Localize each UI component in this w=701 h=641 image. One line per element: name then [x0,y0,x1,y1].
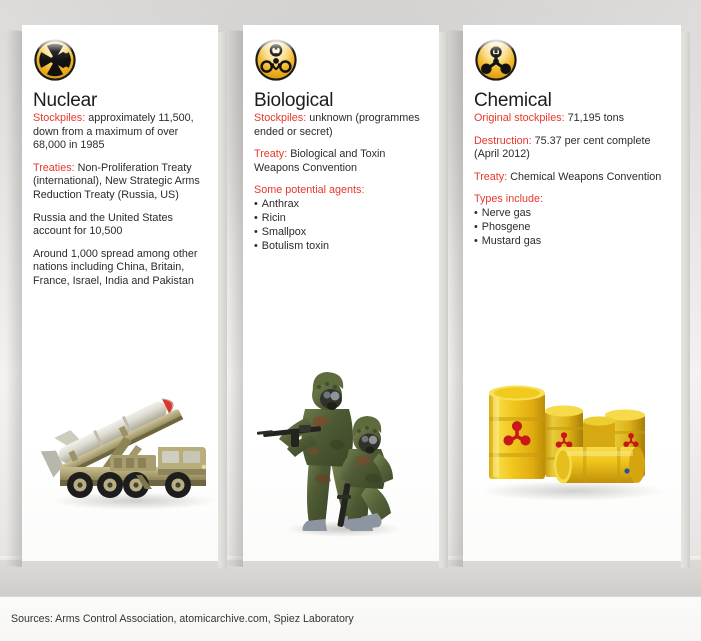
fact-label: Stockpiles: [254,112,306,124]
category-title-nuclear: Nuclear [33,91,206,111]
fact-label: Stockpiles: [33,112,85,124]
bullets-heading: Types include: [474,193,543,205]
artwork-missile-launcher [38,375,224,515]
fact-label: Treaties: [33,162,75,174]
bullets-heading-types: Types include: [474,193,669,207]
panel-chemical: Chemical Original stockpiles: 71,195 ton… [463,25,681,561]
panel-nuclear: Nuclear Stockpiles: approximately 11,500… [22,25,218,561]
fact-treaty: Treaty: Biological and Toxin Weapons Con… [254,148,427,175]
category-title-biological: Biological [254,91,427,111]
fact-other-nations: Around 1,000 spread among other nations … [33,248,206,289]
fact-destruction: Destruction: 75.37 per cent complete (Ap… [474,135,669,162]
panel-nuclear-content: Nuclear Stockpiles: approximately 11,500… [33,38,206,288]
fact-label: Destruction: [474,135,532,147]
agent-list: Anthrax Ricin Smallpox Botulism toxin [254,198,427,254]
fact-label: Treaty: [474,171,507,183]
list-item: Nerve gas [474,207,669,221]
fact-original-stockpiles: Original stockpiles: 71,195 tons [474,112,669,126]
chemical-weapon-hazard-icon [474,38,669,82]
plinth-riser [0,560,701,596]
fact-label: Treaty: [254,148,287,160]
artwork-hazard-barrels [471,375,675,503]
type-list: Nerve gas Phosgene Mustard gas [474,207,669,249]
category-title-chemical: Chemical [474,91,669,111]
list-item: Ricin [254,212,427,226]
footer: Sources: Arms Control Association, atomi… [0,596,701,641]
radiation-hazard-icon [33,38,206,82]
list-item: Botulism toxin [254,240,427,254]
fact-treaty: Treaty: Chemical Weapons Convention [474,171,669,185]
bullets-heading-agents: Some potential agents: [254,184,427,198]
fact-stockpiles: Stockpiles: approximately 11,500, down f… [33,112,206,153]
facts-biological: Stockpiles: unknown (programmes ended or… [254,112,427,254]
list-item: Anthrax [254,198,427,212]
artwork-soldiers [255,343,431,543]
facts-nuclear: Stockpiles: approximately 11,500, down f… [33,112,206,289]
fact-label: Original stockpiles: [474,112,565,124]
list-item: Smallpox [254,226,427,240]
facts-chemical: Original stockpiles: 71,195 tons Destruc… [474,112,669,249]
bullets-heading: Some potential agents: [254,184,364,196]
fact-text: Chemical Weapons Convention [507,171,661,183]
panel-biological: Biological Stockpiles: unknown (programm… [243,25,439,561]
panel-biological-content: Biological Stockpiles: unknown (programm… [254,38,427,254]
fact-treaties: Treaties: Non-Proliferation Treaty (inte… [33,162,206,203]
list-item: Mustard gas [474,235,669,249]
panel-chemical-content: Chemical Original stockpiles: 71,195 ton… [474,38,669,249]
biohazard-icon [254,38,427,82]
sources-text: Sources: Arms Control Association, atomi… [11,612,354,626]
infographic-stage: Nuclear Stockpiles: approximately 11,500… [0,0,701,596]
fact-text: Around 1,000 spread among other nations … [33,248,197,287]
list-item: Phosgene [474,221,669,235]
fact-text: 71,195 tons [565,112,624,124]
fact-russia-us-share: Russia and the United States account for… [33,212,206,239]
fact-stockpiles: Stockpiles: unknown (programmes ended or… [254,112,427,139]
fact-text: Russia and the United States account for… [33,212,173,238]
